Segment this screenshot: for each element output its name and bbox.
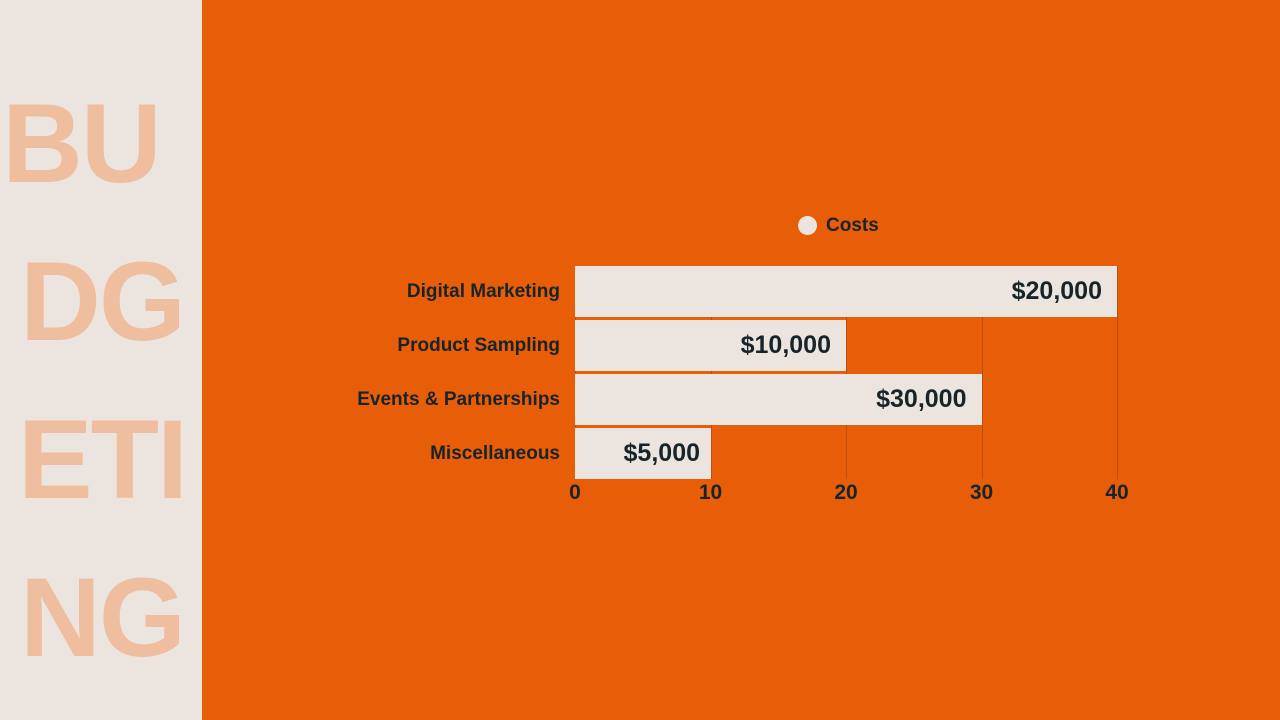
chart-legend: Costs xyxy=(798,216,879,235)
bar-row: $10,000Product Sampling xyxy=(575,320,1117,371)
bar-value-label: $30,000 xyxy=(842,374,967,425)
bar-row: $5,000Miscellaneous xyxy=(575,428,1117,479)
legend-dot-icon xyxy=(798,216,817,235)
x-axis-tick-30: 30 xyxy=(970,482,993,503)
bar-row: $20,000Digital Marketing xyxy=(575,266,1117,317)
x-axis-tick-40: 40 xyxy=(1105,482,1128,503)
category-label: Product Sampling xyxy=(140,320,560,371)
plot-area: $20,000Digital Marketing$10,000Product S… xyxy=(575,266,1117,479)
category-label: Miscellaneous xyxy=(140,428,560,479)
sidebar-title-line-1: BU xyxy=(2,88,202,200)
category-label: Digital Marketing xyxy=(140,266,560,317)
bar-value-label: $20,000 xyxy=(977,266,1102,317)
bar-row: $30,000Events & Partnerships xyxy=(575,374,1117,425)
gridline-x-40 xyxy=(1117,266,1118,479)
category-label-slot: Miscellaneous xyxy=(140,428,560,479)
category-label-slot: Events & Partnerships xyxy=(140,374,560,425)
bar-value-label: $5,000 xyxy=(575,428,700,479)
x-axis-tick-20: 20 xyxy=(834,482,857,503)
slide-canvas: BU DG ETI NG Costs $20,000Digital Market… xyxy=(0,0,1280,720)
bar-chart: Costs $20,000Digital Marketing$10,000Pro… xyxy=(202,0,1280,720)
bar-value-label: $10,000 xyxy=(706,320,831,371)
category-label-slot: Product Sampling xyxy=(140,320,560,371)
category-label: Events & Partnerships xyxy=(140,374,560,425)
x-axis-tick-10: 10 xyxy=(699,482,722,503)
category-label-slot: Digital Marketing xyxy=(140,266,560,317)
legend-item-label: Costs xyxy=(826,216,879,235)
x-axis-tick-0: 0 xyxy=(569,482,581,503)
sidebar-title-line-4: NG xyxy=(2,562,202,674)
